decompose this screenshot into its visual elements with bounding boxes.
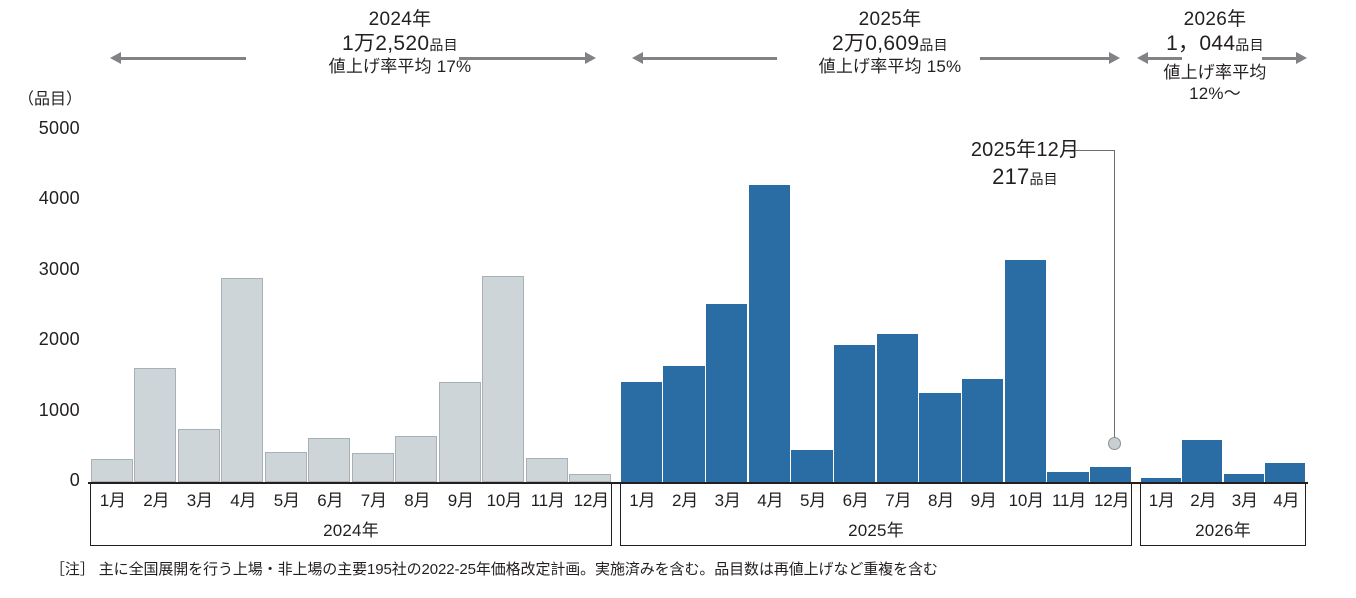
footnote: ［注］ 主に全国展開を行う上場・非上場の主要195社の2022-25年価格改定計…	[50, 558, 938, 579]
bar-2024年-4月[interactable]	[221, 278, 263, 482]
x-axis-year-2025年: 2025年	[621, 516, 1131, 541]
arrow-shaft	[119, 57, 246, 60]
bar-2024年-5月[interactable]	[265, 452, 307, 482]
bar-2024年-11月[interactable]	[526, 458, 568, 482]
chart-root: 2024年 1万2,520品目 値上げ率平均 17% 2025年 2万0,609…	[0, 0, 1356, 598]
arrow-shaft	[1262, 57, 1298, 60]
arrow-shaft	[980, 57, 1111, 60]
x-tick-2024年-2月: 2月	[135, 486, 179, 511]
x-tick-2024年-3月: 3月	[178, 486, 222, 511]
bar-2024年-2月[interactable]	[134, 368, 176, 482]
bar-2024年-7月[interactable]	[352, 453, 394, 482]
bar-2025年-2月[interactable]	[663, 366, 704, 482]
y-axis-unit-label: （品目）	[18, 85, 82, 109]
callout-endpoint-dot	[1108, 437, 1121, 450]
x-tick-2025年-4月: 4月	[749, 486, 792, 511]
bar-2024年-6月[interactable]	[308, 438, 350, 482]
bar-2024年-10月[interactable]	[482, 276, 524, 482]
x-axis-months: 1月2月3月4月5月6月7月8月9月10月11月12月	[621, 486, 1131, 512]
x-tick-2025年-8月: 8月	[920, 486, 963, 511]
x-tick-2024年-8月: 8月	[396, 486, 440, 511]
x-tick-2025年-6月: 6月	[834, 486, 877, 511]
period-2026-rate-line2: 12%〜	[1120, 84, 1310, 105]
callout-leader-vertical	[1114, 150, 1115, 440]
x-tick-2026年-4月: 4月	[1266, 486, 1308, 511]
x-tick-2025年-3月: 3月	[706, 486, 749, 511]
x-tick-2026年-2月: 2月	[1183, 486, 1225, 511]
period-header-2025: 2025年 2万0,609品目 値上げ率平均 15%	[740, 8, 1040, 78]
callout-value: 217品目	[930, 163, 1120, 191]
x-tick-2025年-1月: 1月	[621, 486, 664, 511]
period-2026-arrow-left	[1137, 52, 1182, 64]
bar-2026年-4月[interactable]	[1265, 463, 1305, 482]
x-tick-2026年-3月: 3月	[1224, 486, 1266, 511]
x-axis-box-2025年: 1月2月3月4月5月6月7月8月9月10月11月12月2025年	[620, 482, 1132, 546]
bar-2025年-5月[interactable]	[791, 450, 832, 482]
x-tick-2024年-10月: 10月	[483, 486, 527, 511]
x-tick-2024年-4月: 4月	[222, 486, 266, 511]
arrow-shaft	[459, 57, 587, 60]
period-2026-title: 2026年	[1120, 8, 1310, 31]
x-tick-2024年-12月: 12月	[570, 486, 614, 511]
arrowhead-right-icon	[1296, 52, 1307, 64]
footnote-marker: ［注］	[50, 561, 95, 578]
x-axis-year-2024年: 2024年	[91, 516, 611, 541]
y-axis-tick-5000: 5000	[8, 118, 80, 139]
bar-2024年-12月[interactable]	[569, 474, 611, 482]
x-tick-2025年-11月: 11月	[1048, 486, 1091, 511]
bar-2025年-7月[interactable]	[877, 334, 918, 482]
x-tick-2025年-2月: 2月	[664, 486, 707, 511]
bar-2024年-3月[interactable]	[178, 429, 220, 483]
bar-2025年-4月[interactable]	[749, 185, 790, 482]
bar-2025年-1月[interactable]	[621, 382, 662, 482]
x-axis-year-2026年: 2026年	[1141, 516, 1305, 541]
x-tick-2025年-9月: 9月	[962, 486, 1005, 511]
bar-2025年-11月[interactable]	[1047, 472, 1088, 482]
x-tick-2025年-5月: 5月	[792, 486, 835, 511]
bar-2025年-12月[interactable]	[1090, 467, 1131, 482]
x-tick-2024年-9月: 9月	[439, 486, 483, 511]
period-2024-arrow-left	[110, 52, 246, 64]
x-tick-2024年-7月: 7月	[352, 486, 396, 511]
x-axis-months: 1月2月3月4月	[1141, 486, 1305, 512]
x-tick-2024年-5月: 5月	[265, 486, 309, 511]
bar-2025年-6月[interactable]	[834, 345, 875, 482]
period-2025-title: 2025年	[740, 8, 1040, 31]
x-tick-2025年-10月: 10月	[1005, 486, 1048, 511]
callout-leader-horizontal	[1075, 150, 1115, 151]
x-tick-2025年-7月: 7月	[877, 486, 920, 511]
y-axis-tick-2000: 2000	[8, 329, 80, 350]
period-2026-arrow-right	[1262, 52, 1307, 64]
x-axis-months: 1月2月3月4月5月6月7月8月9月10月11月12月	[91, 486, 611, 512]
footnote-text: 主に全国展開を行う上場・非上場の主要195社の2022-25年価格改定計画。実施…	[99, 561, 938, 578]
bar-2025年-3月[interactable]	[706, 304, 747, 482]
x-tick-2024年-1月: 1月	[91, 486, 135, 511]
x-tick-2026年-1月: 1月	[1141, 486, 1183, 511]
x-tick-2024年-11月: 11月	[526, 486, 570, 511]
period-2026-rate-line1: 値上げ率平均	[1120, 63, 1310, 84]
plot-area	[88, 130, 1308, 482]
period-2025-arrow-left	[632, 52, 777, 64]
bar-2025年-10月[interactable]	[1005, 260, 1046, 482]
arrow-shaft	[641, 57, 777, 60]
bar-2024年-9月[interactable]	[439, 382, 481, 482]
arrow-shaft	[1146, 57, 1182, 60]
y-axis-tick-4000: 4000	[8, 188, 80, 209]
period-2024-title: 2024年	[250, 8, 550, 31]
bar-2026年-2月[interactable]	[1182, 440, 1222, 482]
arrowhead-right-icon	[1109, 52, 1120, 64]
bar-2025年-9月[interactable]	[962, 379, 1003, 482]
y-axis-tick-1000: 1000	[8, 400, 80, 421]
x-tick-2025年-12月: 12月	[1090, 486, 1133, 511]
bar-2025年-8月[interactable]	[919, 393, 960, 482]
x-tick-2024年-6月: 6月	[309, 486, 353, 511]
x-axis-box-2024年: 1月2月3月4月5月6月7月8月9月10月11月12月2024年	[90, 482, 612, 546]
dec-2025-callout: 2025年12月 217品目	[930, 138, 1120, 191]
bar-2024年-1月[interactable]	[91, 459, 133, 482]
bar-2026年-3月[interactable]	[1224, 474, 1264, 482]
y-axis-tick-3000: 3000	[8, 259, 80, 280]
period-2025-arrow-right	[980, 52, 1120, 64]
x-axis-box-2026年: 1月2月3月4月2026年	[1140, 482, 1306, 546]
period-2024-arrow-right	[459, 52, 596, 64]
arrowhead-right-icon	[585, 52, 596, 64]
y-axis-tick-0: 0	[8, 470, 80, 491]
period-header-2024: 2024年 1万2,520品目 値上げ率平均 17%	[250, 8, 550, 78]
bar-2024年-8月[interactable]	[395, 436, 437, 482]
